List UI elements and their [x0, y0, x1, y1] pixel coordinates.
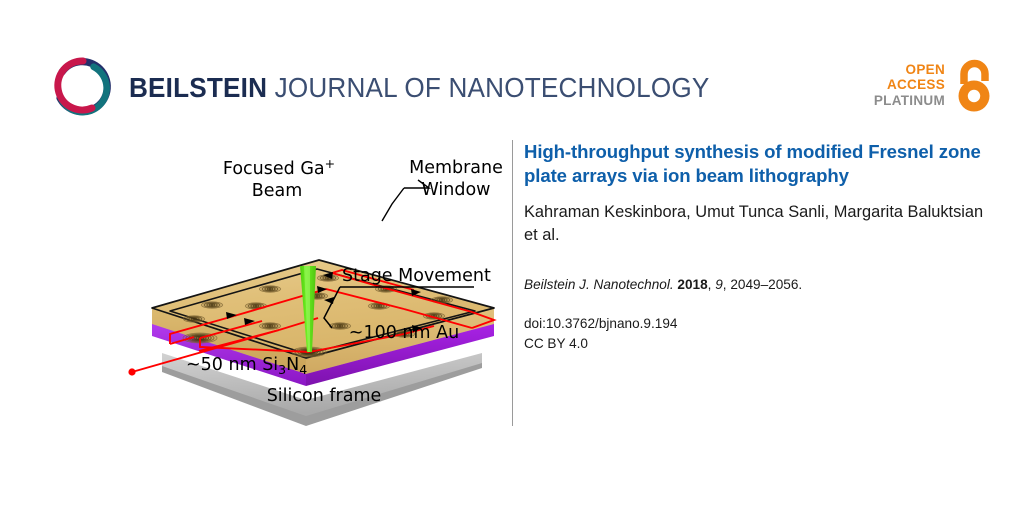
- open-access-text: OPEN ACCESS PLATINUM: [874, 62, 945, 109]
- column-divider: [512, 140, 513, 426]
- oa-label-open: OPEN: [874, 62, 945, 78]
- label-membrane-window-line1: Membrane: [409, 158, 503, 178]
- label-membrane-window-line2: Window: [421, 180, 490, 200]
- wordmark-journal-of-nanotechnology: JOURNAL OF NANOTECHNOLOGY: [267, 72, 709, 103]
- label-nitride-thickness: ~50 nm Si3N4: [186, 355, 307, 377]
- article-metadata: High-throughput synthesis of modified Fr…: [524, 140, 992, 354]
- oa-label-platinum: PLATINUM: [874, 93, 945, 109]
- citation-volume: 9: [715, 277, 723, 292]
- open-padlock-icon: [952, 57, 996, 113]
- label-silicon-frame: Silicon frame: [267, 386, 382, 406]
- citation-pages: 2049–2056.: [730, 277, 802, 292]
- label-gold-thickness: ~100 nm Au: [349, 323, 459, 343]
- citation-year: 2018: [677, 277, 707, 292]
- article-figure: Focused Ga+ Beam Membrane Window Stage M…: [74, 148, 544, 428]
- journal-wordmark: BEILSTEIN JOURNAL OF NANOTECHNOLOGY: [129, 74, 710, 102]
- article-doi[interactable]: doi:10.3762/bjnano.9.194: [524, 314, 992, 334]
- beilstein-spiral-ring-logo-icon: [48, 52, 114, 124]
- article-citation: Beilstein J. Nanotechnol. 2018, 9, 2049–…: [524, 275, 992, 294]
- journal-logo[interactable]: BEILSTEIN JOURNAL OF NANOTECHNOLOGY: [48, 52, 740, 124]
- label-focused-beam-line2: Beam: [252, 181, 303, 201]
- wordmark-beilstein: BEILSTEIN: [129, 72, 267, 103]
- open-access-badge[interactable]: OPEN ACCESS PLATINUM: [874, 57, 996, 113]
- label-focused-beam-line1: Focused Ga+: [223, 156, 335, 179]
- article-license[interactable]: CC BY 4.0: [524, 334, 992, 354]
- oa-label-access: ACCESS: [874, 77, 945, 93]
- label-stage-movement: Stage Movement: [342, 266, 491, 286]
- masthead: BEILSTEIN JOURNAL OF NANOTECHNOLOGY OPEN…: [0, 0, 1024, 135]
- citation-journal: Beilstein J. Nanotechnol.: [524, 277, 674, 292]
- article-authors: Kahraman Keskinbora, Umut Tunca Sanli, M…: [524, 201, 992, 247]
- article-title[interactable]: High-throughput synthesis of modified Fr…: [524, 140, 992, 187]
- fib-lithography-schematic: Focused Ga+ Beam Membrane Window Stage M…: [74, 148, 544, 428]
